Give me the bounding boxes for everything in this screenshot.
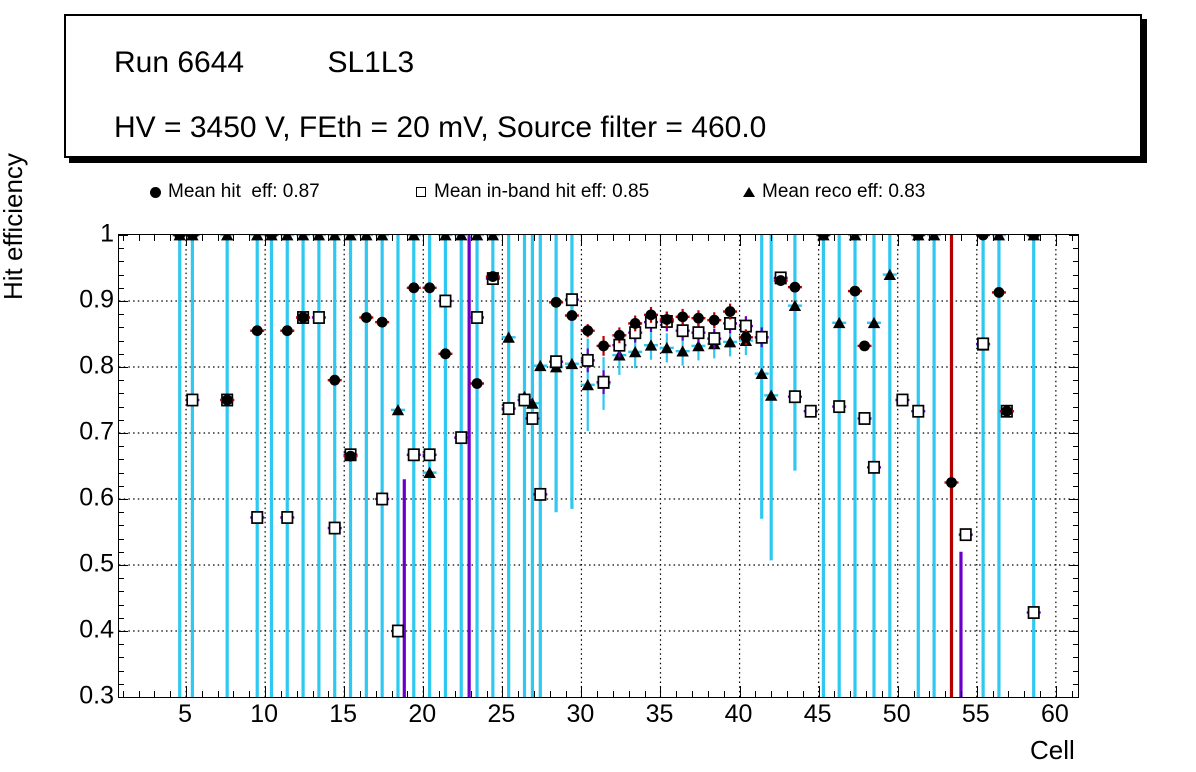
x-tick-mark bbox=[597, 235, 598, 241]
x-tick-mark bbox=[993, 691, 994, 697]
x-tick-mark bbox=[265, 235, 266, 246]
data-point-square bbox=[725, 318, 735, 329]
data-point-square bbox=[567, 294, 577, 305]
y-tick-mark bbox=[119, 605, 124, 606]
y-tick-mark bbox=[119, 380, 124, 381]
y-tick-mark bbox=[119, 288, 124, 289]
y-tick-label: 0.6 bbox=[79, 484, 114, 513]
x-tick-mark bbox=[676, 691, 677, 697]
x-tick-mark bbox=[819, 235, 820, 246]
y-tick-label: 0.8 bbox=[79, 352, 114, 381]
data-point-circle bbox=[377, 317, 388, 328]
data-point-circle bbox=[1001, 406, 1012, 417]
y-tick-mark bbox=[119, 499, 128, 500]
data-point-square bbox=[472, 312, 482, 323]
x-tick-mark bbox=[645, 235, 646, 241]
y-tick-mark bbox=[1073, 684, 1078, 685]
data-point-circle bbox=[946, 477, 957, 488]
y-tick-mark bbox=[119, 591, 124, 592]
x-tick-label: 55 bbox=[962, 700, 990, 729]
x-tick-mark bbox=[771, 235, 772, 241]
x-tick-label: 15 bbox=[329, 700, 357, 729]
x-tick-mark bbox=[645, 691, 646, 697]
data-point-square bbox=[314, 312, 324, 323]
data-point-square bbox=[709, 333, 719, 344]
x-tick-mark bbox=[218, 235, 219, 241]
x-tick-mark bbox=[407, 235, 408, 241]
data-point-square bbox=[440, 295, 450, 306]
x-tick-mark bbox=[471, 691, 472, 697]
x-tick-mark bbox=[487, 235, 488, 241]
data-point-square bbox=[535, 489, 545, 500]
x-tick-mark bbox=[613, 691, 614, 697]
x-tick-mark bbox=[1072, 235, 1073, 241]
title-run-line: Run 6644 SL1L3 bbox=[114, 46, 414, 80]
x-tick-mark bbox=[882, 691, 883, 697]
x-tick-mark bbox=[455, 691, 456, 697]
y-tick-mark bbox=[119, 631, 128, 632]
x-tick-mark bbox=[566, 235, 567, 241]
y-tick-mark bbox=[119, 684, 124, 685]
y-tick-mark bbox=[1073, 327, 1078, 328]
x-tick-mark bbox=[123, 691, 124, 697]
data-point-circle bbox=[487, 271, 498, 282]
x-tick-mark bbox=[914, 691, 915, 697]
y-tick-mark bbox=[119, 393, 124, 394]
y-tick-mark bbox=[1073, 407, 1078, 408]
y-tick-label: 0.5 bbox=[79, 550, 114, 579]
data-point-square bbox=[409, 449, 419, 460]
y-tick-mark bbox=[119, 420, 124, 421]
y-tick-mark bbox=[1069, 235, 1078, 236]
y-tick-mark bbox=[119, 525, 124, 526]
x-tick-mark bbox=[186, 235, 187, 246]
x-tick-mark bbox=[929, 691, 930, 697]
y-tick-mark bbox=[1073, 446, 1078, 447]
data-point-circle bbox=[598, 340, 609, 351]
x-tick-mark bbox=[123, 235, 124, 241]
x-tick-mark bbox=[771, 691, 772, 697]
x-tick-mark bbox=[961, 235, 962, 241]
x-tick-label: 60 bbox=[1041, 700, 1069, 729]
x-tick-label: 30 bbox=[567, 700, 595, 729]
x-tick-mark bbox=[629, 235, 630, 241]
data-point-square bbox=[757, 332, 767, 343]
x-tick-mark bbox=[755, 235, 756, 241]
x-tick-mark bbox=[1008, 235, 1009, 241]
square-marker-icon bbox=[408, 187, 434, 197]
y-tick-label: 0.9 bbox=[79, 286, 114, 315]
series-triangle bbox=[173, 235, 1041, 697]
y-tick-mark bbox=[119, 446, 124, 447]
x-tick-mark bbox=[313, 691, 314, 697]
legend-entry-hit-eff: Mean hit eff: 0.87 bbox=[142, 176, 320, 208]
x-tick-mark bbox=[534, 235, 535, 241]
x-tick-mark bbox=[866, 691, 867, 697]
data-point-square bbox=[551, 356, 561, 367]
x-tick-mark bbox=[1040, 235, 1041, 241]
plot-area bbox=[119, 235, 1078, 697]
data-point-circle bbox=[361, 312, 372, 323]
x-tick-mark bbox=[518, 691, 519, 697]
data-point-square bbox=[790, 391, 800, 402]
data-point-square bbox=[1029, 607, 1039, 618]
data-point-square bbox=[424, 449, 434, 460]
x-tick-mark bbox=[297, 235, 298, 241]
data-point-square bbox=[583, 355, 593, 366]
y-tick-mark bbox=[1073, 539, 1078, 540]
y-tick-label: 1 bbox=[100, 220, 114, 249]
y-tick-mark bbox=[119, 367, 128, 368]
data-point-square bbox=[456, 432, 466, 443]
x-tick-mark bbox=[1056, 235, 1057, 246]
y-tick-mark bbox=[1073, 473, 1078, 474]
x-tick-mark bbox=[170, 235, 171, 241]
x-tick-mark bbox=[344, 235, 345, 246]
x-tick-mark bbox=[233, 691, 234, 697]
y-tick-mark bbox=[1073, 605, 1078, 606]
title-settings-line: HV = 3450 V, FEth = 20 mV, Source filter… bbox=[114, 111, 766, 145]
x-tick-mark bbox=[929, 235, 930, 241]
y-tick-mark bbox=[1073, 552, 1078, 553]
x-tick-label: 45 bbox=[804, 700, 832, 729]
x-tick-mark bbox=[898, 686, 899, 697]
x-tick-mark bbox=[740, 686, 741, 697]
data-point-circle bbox=[850, 286, 861, 297]
x-tick-mark bbox=[787, 691, 788, 697]
y-tick-mark bbox=[1073, 591, 1078, 592]
legend-label-hit-eff: Mean hit eff: 0.87 bbox=[168, 181, 320, 203]
x-tick-mark bbox=[233, 235, 234, 241]
chart-page: Run 6644 SL1L3 HV = 3450 V, FEth = 20 mV… bbox=[0, 0, 1196, 772]
x-tick-mark bbox=[945, 235, 946, 241]
data-point-circle bbox=[994, 287, 1005, 298]
y-tick-mark bbox=[1069, 433, 1078, 434]
x-tick-mark bbox=[993, 235, 994, 241]
data-point-circle bbox=[693, 313, 704, 324]
x-tick-mark bbox=[376, 691, 377, 697]
x-tick-mark bbox=[755, 691, 756, 697]
x-tick-mark bbox=[502, 686, 503, 697]
y-tick-mark bbox=[119, 552, 124, 553]
x-tick-mark bbox=[154, 235, 155, 241]
x-tick-mark bbox=[202, 691, 203, 697]
x-tick-mark bbox=[803, 235, 804, 241]
x-tick-mark bbox=[455, 235, 456, 241]
data-point-circle bbox=[282, 325, 293, 336]
y-tick-label: 0.4 bbox=[79, 616, 114, 645]
y-tick-label: 0.3 bbox=[79, 682, 114, 711]
data-point-square bbox=[859, 413, 869, 424]
data-point-circle bbox=[582, 325, 593, 336]
data-point-square bbox=[978, 338, 988, 349]
data-point-circle bbox=[614, 330, 625, 341]
y-tick-mark bbox=[119, 657, 124, 658]
x-tick-mark bbox=[471, 235, 472, 241]
x-tick-mark bbox=[866, 235, 867, 241]
triangle-marker-icon bbox=[736, 187, 762, 197]
data-point-circle bbox=[329, 375, 340, 386]
y-tick-mark bbox=[1073, 525, 1078, 526]
y-tick-mark bbox=[119, 327, 124, 328]
x-tick-mark bbox=[977, 235, 978, 246]
y-tick-mark bbox=[1073, 459, 1078, 460]
x-tick-mark bbox=[708, 235, 709, 241]
x-tick-mark bbox=[660, 235, 661, 246]
x-tick-mark bbox=[249, 235, 250, 241]
x-tick-mark bbox=[154, 691, 155, 697]
y-tick-mark bbox=[119, 314, 124, 315]
y-tick-mark bbox=[119, 459, 124, 460]
y-tick-mark bbox=[1073, 393, 1078, 394]
x-tick-mark bbox=[534, 691, 535, 697]
y-tick-mark bbox=[119, 275, 124, 276]
y-tick-mark bbox=[119, 261, 124, 262]
data-point-circle bbox=[630, 318, 641, 329]
x-tick-mark bbox=[1040, 691, 1041, 697]
x-tick-label: 50 bbox=[883, 700, 911, 729]
x-tick-mark bbox=[708, 691, 709, 697]
x-tick-mark bbox=[898, 235, 899, 246]
x-tick-label: 25 bbox=[487, 700, 515, 729]
data-point-square bbox=[282, 512, 292, 523]
y-tick-mark bbox=[1073, 314, 1078, 315]
data-point-circle bbox=[790, 282, 801, 293]
x-tick-mark bbox=[581, 686, 582, 697]
x-tick-mark bbox=[518, 235, 519, 241]
y-tick-mark bbox=[119, 473, 124, 474]
x-tick-mark bbox=[803, 691, 804, 697]
y-tick-mark bbox=[119, 341, 124, 342]
data-point-circle bbox=[725, 306, 736, 317]
x-tick-mark bbox=[566, 691, 567, 697]
y-tick-mark bbox=[119, 512, 124, 513]
data-point-square bbox=[252, 512, 262, 523]
x-tick-mark bbox=[487, 691, 488, 697]
x-tick-mark bbox=[502, 235, 503, 246]
data-point-circle bbox=[646, 309, 657, 320]
x-tick-label: 40 bbox=[725, 700, 753, 729]
y-tick-mark bbox=[119, 644, 124, 645]
x-tick-mark bbox=[724, 691, 725, 697]
x-tick-mark bbox=[660, 686, 661, 697]
x-tick-mark bbox=[819, 686, 820, 697]
x-tick-mark bbox=[550, 235, 551, 241]
x-tick-mark bbox=[265, 686, 266, 697]
x-tick-mark bbox=[629, 691, 630, 697]
x-tick-mark bbox=[882, 235, 883, 241]
data-point-circle bbox=[978, 235, 989, 240]
data-point-circle bbox=[222, 395, 233, 406]
data-point-square bbox=[834, 401, 844, 412]
x-tick-mark bbox=[692, 691, 693, 697]
legend-entry-inband-hit-eff: Mean in-band hit eff: 0.85 bbox=[408, 176, 649, 208]
y-tick-mark bbox=[119, 407, 124, 408]
data-point-square bbox=[806, 406, 816, 417]
x-tick-mark bbox=[1008, 691, 1009, 697]
x-tick-mark bbox=[344, 686, 345, 697]
x-tick-mark bbox=[376, 235, 377, 241]
x-tick-label: 10 bbox=[250, 700, 278, 729]
circle-marker-icon bbox=[142, 187, 168, 198]
x-tick-mark bbox=[914, 235, 915, 241]
data-point-circle bbox=[298, 312, 309, 323]
x-tick-mark bbox=[170, 691, 171, 697]
y-tick-mark bbox=[1073, 420, 1078, 421]
x-tick-mark bbox=[613, 235, 614, 241]
data-point-square bbox=[187, 394, 197, 405]
x-tick-mark bbox=[724, 235, 725, 241]
x-tick-mark bbox=[392, 235, 393, 241]
y-tick-mark bbox=[1069, 499, 1078, 500]
data-point-circle bbox=[709, 315, 720, 326]
x-tick-mark bbox=[139, 235, 140, 241]
data-point-square bbox=[503, 403, 513, 414]
x-tick-mark bbox=[1056, 686, 1057, 697]
x-tick-mark bbox=[218, 691, 219, 697]
y-tick-mark bbox=[1073, 354, 1078, 355]
y-tick-mark bbox=[1073, 261, 1078, 262]
data-point-square bbox=[598, 377, 608, 388]
x-tick-mark bbox=[328, 235, 329, 241]
data-point-circle bbox=[567, 310, 578, 321]
x-tick-mark bbox=[297, 691, 298, 697]
x-tick-mark bbox=[392, 691, 393, 697]
x-tick-mark bbox=[281, 691, 282, 697]
x-tick-mark bbox=[581, 235, 582, 246]
x-tick-mark bbox=[423, 686, 424, 697]
x-tick-mark bbox=[407, 691, 408, 697]
y-tick-mark bbox=[119, 433, 128, 434]
y-tick-mark bbox=[119, 486, 124, 487]
data-point-circle bbox=[252, 325, 263, 336]
y-tick-mark bbox=[119, 248, 124, 249]
x-tick-mark bbox=[313, 235, 314, 241]
y-tick-mark bbox=[1073, 512, 1078, 513]
x-tick-mark bbox=[1024, 691, 1025, 697]
y-tick-mark bbox=[119, 671, 124, 672]
data-point-square bbox=[330, 522, 340, 533]
data-point-circle bbox=[677, 311, 688, 322]
x-tick-mark bbox=[202, 235, 203, 241]
x-tick-mark bbox=[676, 235, 677, 241]
y-tick-mark bbox=[119, 697, 128, 698]
x-tick-mark bbox=[850, 235, 851, 241]
y-tick-mark bbox=[1073, 341, 1078, 342]
x-tick-mark bbox=[961, 691, 962, 697]
x-tick-mark bbox=[360, 691, 361, 697]
legend-label-reco-eff: Mean reco eff: 0.83 bbox=[762, 181, 925, 203]
plot-svg bbox=[119, 235, 1078, 697]
data-point-circle bbox=[551, 297, 562, 308]
x-tick-mark bbox=[834, 691, 835, 697]
legend-entry-reco-eff: Mean reco eff: 0.83 bbox=[736, 176, 925, 208]
y-tick-mark bbox=[1069, 301, 1078, 302]
data-point-circle bbox=[859, 340, 870, 351]
legend-label-inband-hit-eff: Mean in-band hit eff: 0.85 bbox=[434, 181, 649, 203]
plot-frame bbox=[118, 234, 1079, 698]
x-tick-mark bbox=[945, 691, 946, 697]
y-tick-mark bbox=[1073, 618, 1078, 619]
data-point-square bbox=[393, 625, 403, 636]
x-tick-mark bbox=[692, 235, 693, 241]
data-point-square bbox=[519, 394, 529, 405]
data-point-square bbox=[913, 406, 923, 417]
x-tick-mark bbox=[740, 235, 741, 246]
y-tick-mark bbox=[1073, 671, 1078, 672]
y-tick-mark bbox=[1073, 288, 1078, 289]
x-tick-mark bbox=[439, 691, 440, 697]
y-tick-mark bbox=[119, 539, 124, 540]
title-box: Run 6644 SL1L3 HV = 3450 V, FEth = 20 mV… bbox=[64, 14, 1142, 158]
x-tick-mark bbox=[328, 691, 329, 697]
data-point-square bbox=[377, 493, 387, 504]
series-square bbox=[185, 272, 1040, 636]
x-tick-mark bbox=[597, 691, 598, 697]
y-tick-mark bbox=[1073, 644, 1078, 645]
y-tick-mark bbox=[119, 578, 124, 579]
x-tick-mark bbox=[850, 691, 851, 697]
data-point-square bbox=[693, 327, 703, 338]
y-tick-mark bbox=[1069, 367, 1078, 368]
x-tick-mark bbox=[423, 235, 424, 246]
x-tick-mark bbox=[281, 235, 282, 241]
x-tick-mark bbox=[360, 235, 361, 241]
y-axis-label: Hit efficiency bbox=[0, 153, 29, 300]
x-tick-mark bbox=[834, 235, 835, 241]
data-point-circle bbox=[740, 332, 751, 343]
data-point-square bbox=[677, 325, 687, 336]
data-point-circle bbox=[775, 275, 786, 286]
y-tick-mark bbox=[1073, 248, 1078, 249]
data-point-square bbox=[869, 462, 879, 473]
x-tick-label: 5 bbox=[178, 700, 192, 729]
x-axis-label: Cell bbox=[1030, 735, 1075, 766]
data-point-circle bbox=[345, 451, 356, 462]
data-point-circle bbox=[440, 348, 451, 359]
y-tick-label: 0.7 bbox=[79, 418, 114, 447]
data-point-circle bbox=[424, 282, 435, 293]
y-tick-mark bbox=[1073, 275, 1078, 276]
y-tick-mark bbox=[1073, 380, 1078, 381]
x-tick-label: 35 bbox=[646, 700, 674, 729]
y-tick-mark bbox=[119, 618, 124, 619]
x-tick-label: 20 bbox=[408, 700, 436, 729]
x-tick-mark bbox=[977, 686, 978, 697]
y-tick-mark bbox=[1069, 697, 1078, 698]
data-point-circle bbox=[661, 314, 672, 325]
y-tick-mark bbox=[1069, 631, 1078, 632]
x-tick-mark bbox=[186, 686, 187, 697]
chart-legend: Mean hit eff: 0.87 Mean in-band hit eff:… bbox=[118, 176, 1077, 208]
x-tick-mark bbox=[550, 691, 551, 697]
x-tick-mark bbox=[1024, 235, 1025, 241]
x-tick-mark bbox=[139, 691, 140, 697]
y-tick-mark bbox=[119, 354, 124, 355]
x-tick-mark bbox=[249, 691, 250, 697]
data-point-square bbox=[897, 394, 907, 405]
x-tick-mark bbox=[1072, 691, 1073, 697]
x-tick-mark bbox=[787, 235, 788, 241]
y-tick-mark bbox=[119, 565, 128, 566]
data-point-circle bbox=[408, 282, 419, 293]
data-point-circle bbox=[472, 378, 483, 389]
x-tick-mark bbox=[439, 235, 440, 241]
y-tick-mark bbox=[1073, 578, 1078, 579]
y-tick-mark bbox=[1073, 657, 1078, 658]
y-tick-mark bbox=[1073, 486, 1078, 487]
y-tick-mark bbox=[1069, 565, 1078, 566]
